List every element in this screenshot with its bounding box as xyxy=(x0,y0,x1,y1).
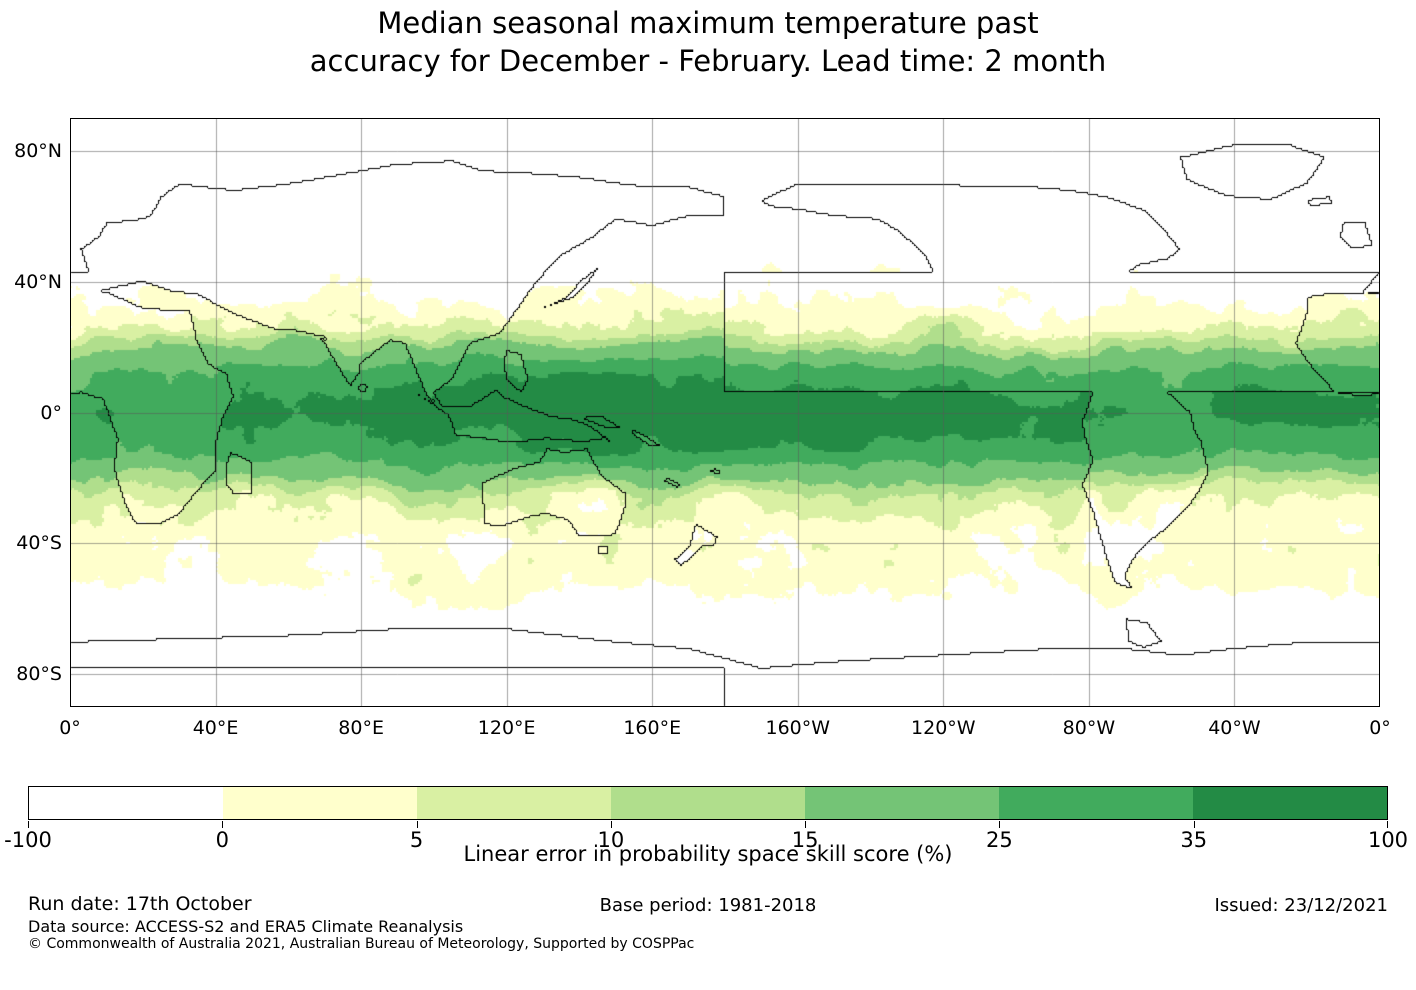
colorbar-label: Linear error in probability space skill … xyxy=(0,842,1416,866)
latitude-tick-label: 80°N xyxy=(14,140,62,162)
page-title: Median seasonal maximum temperature past… xyxy=(0,4,1416,80)
longitude-tick-label: 40°W xyxy=(1208,717,1260,739)
map-plot-area xyxy=(70,118,1380,707)
longitude-tick-label: 80°W xyxy=(1063,717,1115,739)
colorbar-segment xyxy=(29,787,223,819)
copyright-notice: © Commonwealth of Australia 2021, Austra… xyxy=(28,936,694,952)
latitude-tick-label: 0° xyxy=(40,402,62,424)
colorbar-tick xyxy=(999,821,1000,828)
longitude-tick-label: 0° xyxy=(59,717,81,739)
colorbar-tick xyxy=(417,821,418,828)
data-source: Data source: ACCESS-S2 and ERA5 Climate … xyxy=(28,917,463,936)
issued-date: Issued: 23/12/2021 xyxy=(1214,895,1388,916)
colorbar-tick xyxy=(1387,821,1388,828)
latitude-tick-label: 80°S xyxy=(16,663,62,685)
latitude-tick-label: 40°S xyxy=(16,532,62,554)
colorbar-tick xyxy=(28,821,29,828)
colorbar-segment xyxy=(223,787,417,819)
longitude-tick-label: 160°E xyxy=(623,717,681,739)
colorbar-tick xyxy=(805,821,806,828)
colorbar-segment xyxy=(805,787,999,819)
longitude-tick-label: 80°E xyxy=(338,717,384,739)
colorbar-gradient xyxy=(28,786,1388,820)
longitude-tick-label: 40°E xyxy=(193,717,239,739)
colorbar-tick xyxy=(611,821,612,828)
colorbar-segment xyxy=(999,787,1193,819)
colorbar-segment xyxy=(417,787,611,819)
base-period: Base period: 1981-2018 xyxy=(0,895,1416,916)
latitude-tick-label: 40°N xyxy=(14,271,62,293)
longitude-tick-label: 120°E xyxy=(478,717,536,739)
skill-score-heatmap xyxy=(70,118,1380,707)
colorbar-segment xyxy=(611,787,805,819)
colorbar-tick xyxy=(1194,821,1195,828)
colorbar-tick xyxy=(222,821,223,828)
colorbar-segment xyxy=(1193,787,1387,819)
colorbar: -1000510152535100 xyxy=(28,786,1388,820)
longitude-tick-label: 160°W xyxy=(765,717,830,739)
longitude-tick-label: 120°W xyxy=(911,717,976,739)
longitude-tick-label: 0° xyxy=(1369,717,1391,739)
